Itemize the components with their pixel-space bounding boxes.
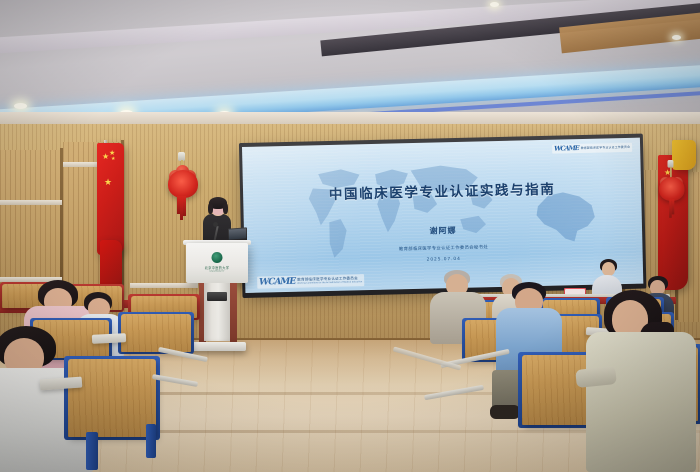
lecture-hall-photo: ★ ★ ★ ★ ★ ★ xyxy=(0,0,700,472)
chinese-flag: ★ ★ ★ ★ xyxy=(97,143,124,255)
audience-head xyxy=(602,262,615,276)
seat-leg xyxy=(146,424,156,458)
seat-back[interactable] xyxy=(121,314,191,352)
university-emblem-icon xyxy=(212,252,223,263)
presenter-hair-side-left xyxy=(208,203,213,214)
presenter-hair-side-right xyxy=(223,203,228,214)
wcame-wordmark-small: WCAME xyxy=(554,145,579,153)
chinese-flag-right: ★ ★ xyxy=(658,155,688,290)
wcame-logo-top-right: WCAME 教育部临床医学专业认证工作委员会 xyxy=(552,143,632,154)
wcame-logo-english: Working Committee for the Accreditation … xyxy=(297,281,362,285)
seat-leg xyxy=(86,432,98,470)
podium-equipment xyxy=(207,292,227,301)
armrest xyxy=(92,333,126,344)
slide-surface: 中国临床医学专业认证实践与指南 谢阿娜 教育部临床医学专业认证工作委员会秘书处 … xyxy=(242,138,643,293)
downlight-icon xyxy=(14,103,27,109)
wcame-wordmark: WCAME xyxy=(259,276,295,287)
seat-back[interactable] xyxy=(68,359,156,437)
downlight-icon xyxy=(490,2,499,7)
podium: 北京中医药大学 UNIVERSITY xyxy=(186,243,248,283)
podium-base xyxy=(190,342,246,351)
wcame-logo-bottom-left: WCAME 教育部临床医学专业认证工作委员会 Working Committee… xyxy=(257,274,364,289)
podium-institution-name-en: UNIVERSITY xyxy=(186,270,248,273)
audience-shoe xyxy=(490,405,520,419)
wall-shelf xyxy=(0,200,62,205)
wall-top-trim xyxy=(0,112,700,124)
projection-screen[interactable]: 中国临床医学专业认证实践与指南 谢阿娜 教育部临床医学专业认证工作委员会秘书处 … xyxy=(242,138,643,293)
laptop-screen xyxy=(229,228,246,239)
microphone-icon xyxy=(213,222,218,227)
wall-shelf xyxy=(130,283,198,288)
wcame-logo-chinese-small: 教育部临床医学专业认证工作委员会 xyxy=(581,146,631,151)
audience-torso xyxy=(586,332,696,472)
flag-furl-gold xyxy=(672,140,696,170)
wall-panel-left-1 xyxy=(0,150,60,290)
podium-side-panel-right xyxy=(230,283,237,345)
downlight-icon xyxy=(672,35,681,40)
